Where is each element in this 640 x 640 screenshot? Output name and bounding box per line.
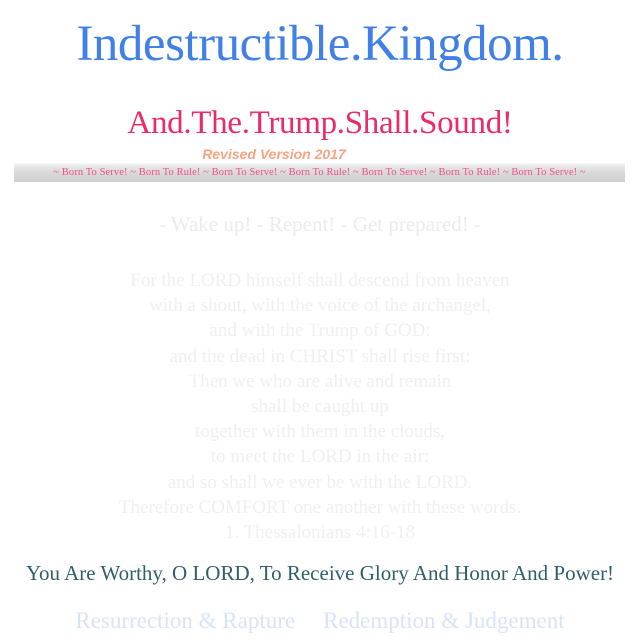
scripture-line: and with the Trump of GOD:: [0, 318, 640, 343]
scripture-line: and the dead in CHRIST shall rise first:: [0, 344, 640, 369]
main-title: Indestructible.Kingdom.: [0, 14, 640, 74]
scripture-line: together with them in the clouds,: [0, 419, 640, 444]
revised-version-tag: Revised Version 2017: [0, 146, 640, 162]
scripture-line: Therefore COMFORT one another with these…: [0, 495, 640, 520]
scripture-line: For the LORD himself shall descend from …: [0, 268, 640, 293]
scripture-line: shall be caught up: [0, 394, 640, 419]
footer-link-resurrection-rapture[interactable]: Resurrection & Rapture: [75, 606, 295, 636]
worthy-line: You Are Worthy, O LORD, To Receive Glory…: [0, 560, 640, 586]
footer-link-redemption-judgement[interactable]: Redemption & Judgement: [323, 606, 564, 636]
call-to-action-line: - Wake up! - Repent! - Get prepared! -: [0, 211, 640, 237]
scripture-line: Then we who are alive and remain: [0, 369, 640, 394]
banner-strip: ~ Born To Serve! ~ Born To Rule! ~ Born …: [14, 163, 625, 182]
scripture-block: For the LORD himself shall descend from …: [0, 268, 640, 545]
scripture-citation: 1. Thessalonians 4:16-18: [0, 520, 640, 545]
banner-text: ~ Born To Serve! ~ Born To Rule! ~ Born …: [53, 167, 585, 179]
scripture-line: to meet the LORD in the air:: [0, 444, 640, 469]
scripture-line: with a shout, with the voice of the arch…: [0, 293, 640, 318]
footer-links: Resurrection & Rapture Redemption & Judg…: [0, 606, 640, 636]
sub-title: And.The.Trump.Shall.Sound!: [0, 104, 640, 142]
scripture-line: and so shall we ever be with the LORD.: [0, 470, 640, 495]
page-root: Indestructible.Kingdom. And.The.Trump.Sh…: [0, 0, 640, 640]
